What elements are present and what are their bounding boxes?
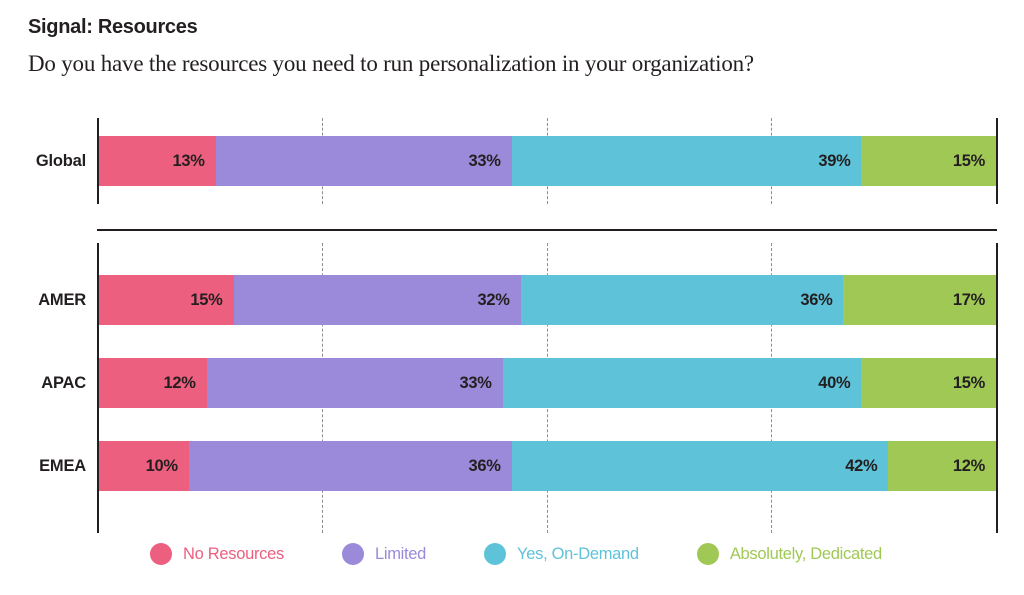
row-label-emea: EMEA — [0, 441, 86, 491]
bar-segment-value: 15% — [190, 291, 222, 310]
bar-segment-value: 36% — [468, 457, 500, 476]
bar-segment-value: 12% — [953, 457, 985, 476]
bar-segment[interactable]: 12% — [888, 441, 996, 491]
bar-segment[interactable]: 42% — [512, 441, 889, 491]
bar-segment-value: 17% — [953, 291, 985, 310]
bar-track: 12%33%40%15% — [99, 358, 996, 408]
legend-label: Limited — [375, 545, 426, 564]
legend-item[interactable]: Absolutely, Dedicated — [697, 543, 882, 565]
bar-track: 15%32%36%17% — [99, 275, 996, 325]
bar-row-global: Global13%33%39%15% — [0, 136, 1024, 186]
chart-legend: No ResourcesLimitedYes, On-DemandAbsolut… — [150, 543, 882, 565]
bar-segment-value: 33% — [460, 374, 492, 393]
group-separator — [97, 229, 997, 231]
bar-segment-value: 32% — [477, 291, 509, 310]
bar-segment[interactable]: 32% — [234, 275, 521, 325]
bar-segment-value: 10% — [146, 457, 178, 476]
chart-root: Signal: Resources Do you have the resour… — [0, 0, 1024, 595]
bar-segment-value: 36% — [800, 291, 832, 310]
bar-track: 10%36%42%12% — [99, 441, 996, 491]
bar-segment-value: 15% — [953, 152, 985, 171]
legend-item[interactable]: Yes, On-Demand — [484, 543, 639, 565]
bar-segment[interactable]: 10% — [99, 441, 189, 491]
bar-row-apac: APAC12%33%40%15% — [0, 358, 1024, 408]
bar-segment-value: 13% — [172, 152, 204, 171]
legend-item[interactable]: No Resources — [150, 543, 284, 565]
bar-row-emea: EMEA10%36%42%12% — [0, 441, 1024, 491]
bar-segment[interactable]: 36% — [189, 441, 512, 491]
bar-segment[interactable]: 15% — [861, 358, 996, 408]
row-label-global: Global — [0, 136, 86, 186]
bar-segment-value: 12% — [164, 374, 196, 393]
bar-segment[interactable]: 12% — [99, 358, 207, 408]
bar-segment-value: 15% — [953, 374, 985, 393]
bar-segment[interactable]: 15% — [99, 275, 234, 325]
legend-label: Absolutely, Dedicated — [730, 545, 882, 564]
legend-swatch-icon — [150, 543, 172, 565]
legend-swatch-icon — [697, 543, 719, 565]
legend-label: Yes, On-Demand — [517, 545, 639, 564]
legend-swatch-icon — [342, 543, 364, 565]
bar-segment[interactable]: 39% — [512, 136, 862, 186]
bar-segment[interactable]: 33% — [216, 136, 512, 186]
row-label-amer: AMER — [0, 275, 86, 325]
row-label-apac: APAC — [0, 358, 86, 408]
bar-segment[interactable]: 36% — [521, 275, 844, 325]
bar-segment[interactable]: 15% — [861, 136, 996, 186]
bar-segment-value: 39% — [818, 152, 850, 171]
bar-segment[interactable]: 13% — [99, 136, 216, 186]
bar-segment-value: 42% — [845, 457, 877, 476]
bar-segment[interactable]: 33% — [207, 358, 503, 408]
legend-label: No Resources — [183, 545, 284, 564]
legend-item[interactable]: Limited — [342, 543, 426, 565]
bar-segment-value: 33% — [468, 152, 500, 171]
plot-area: Global13%33%39%15%AMER15%32%36%17%APAC12… — [0, 0, 1024, 595]
bar-row-amer: AMER15%32%36%17% — [0, 275, 1024, 325]
bar-segment[interactable]: 40% — [503, 358, 862, 408]
bar-segment-value: 40% — [818, 374, 850, 393]
legend-swatch-icon — [484, 543, 506, 565]
bar-track: 13%33%39%15% — [99, 136, 996, 186]
bar-segment[interactable]: 17% — [843, 275, 995, 325]
